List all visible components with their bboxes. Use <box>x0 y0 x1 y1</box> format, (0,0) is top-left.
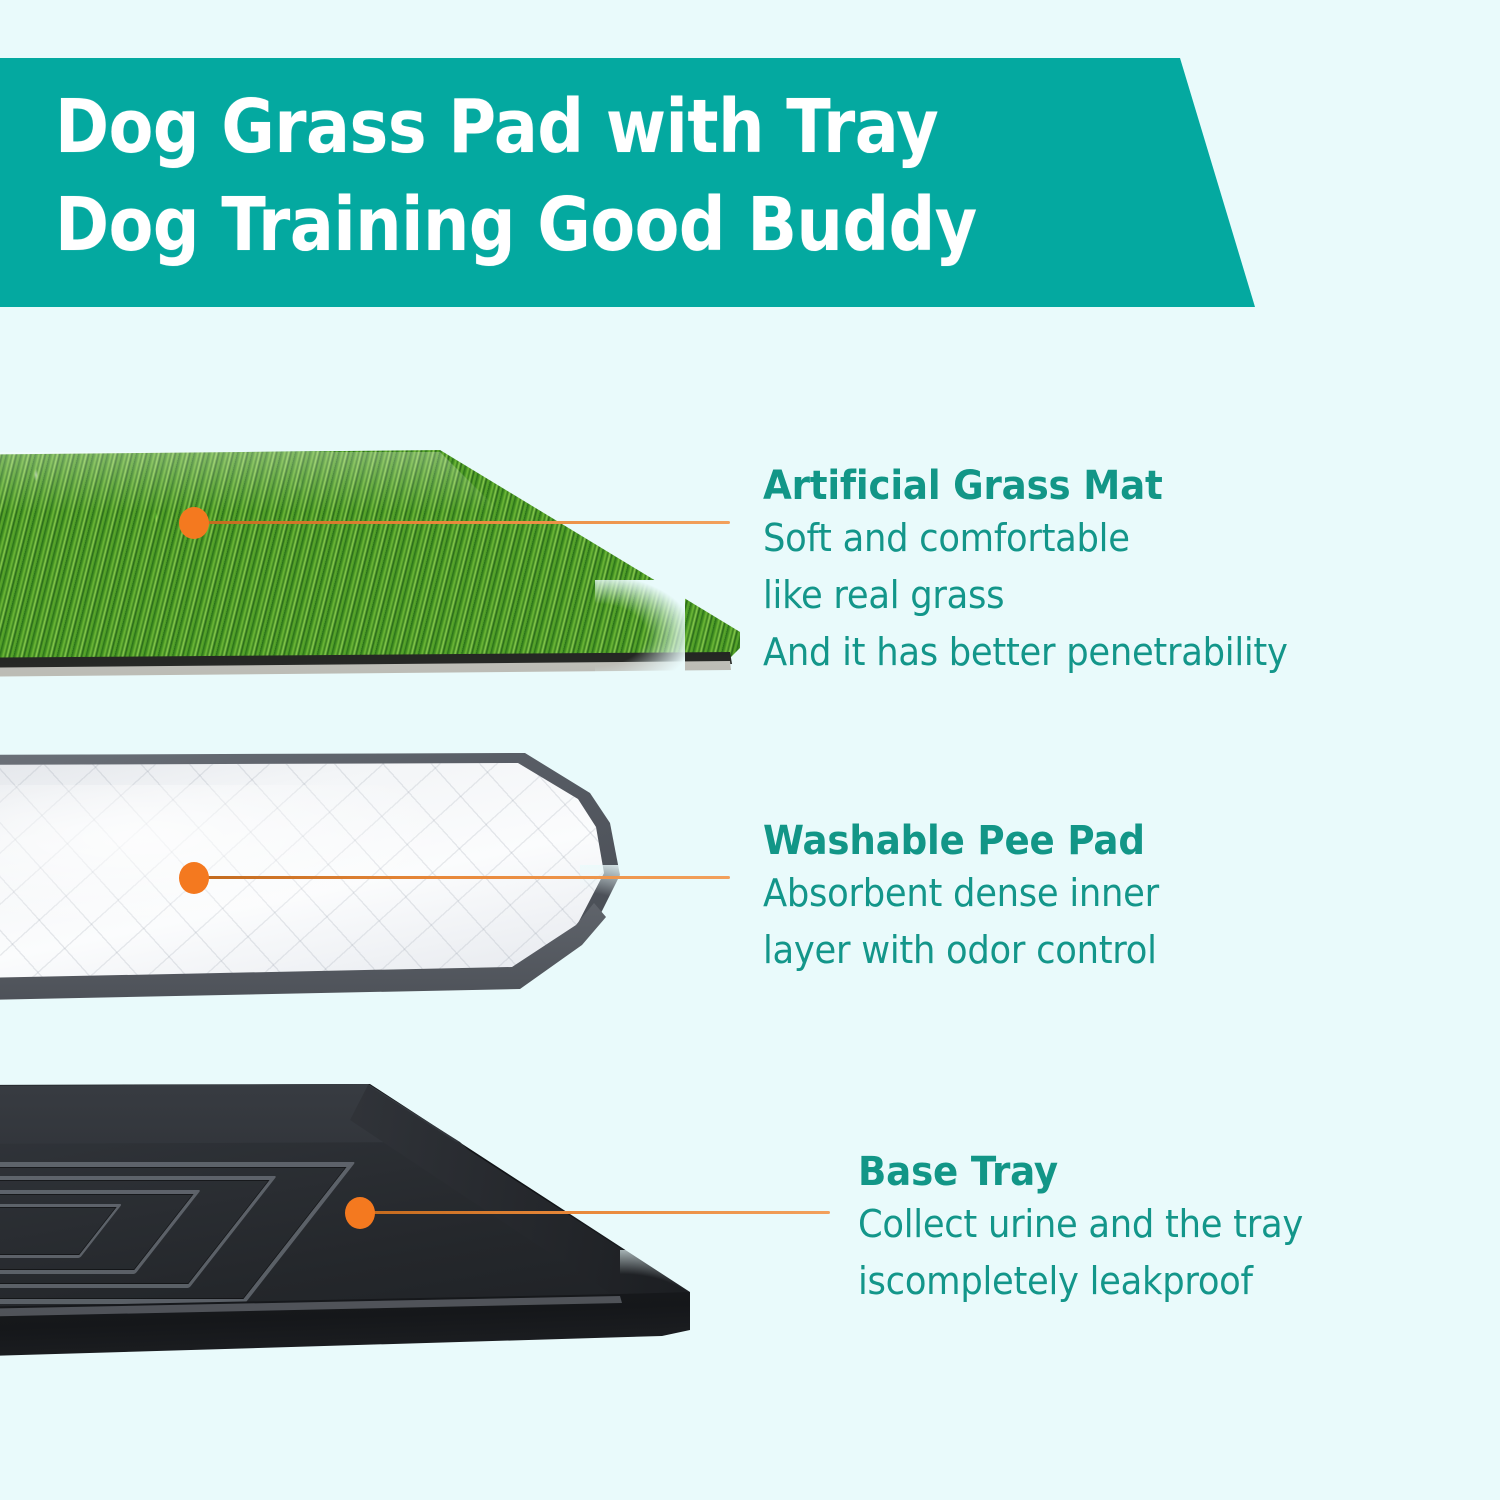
feature-title-grass-mat: Artificial Grass Mat <box>763 462 1288 510</box>
feature-body-pee-pad: Absorbent dense inner layer with odor co… <box>763 865 1159 979</box>
header-title-line-1: Dog Grass Pad with Tray <box>55 78 977 176</box>
pee-pad-edge-fade <box>580 865 690 1015</box>
product-image-grass-mat <box>0 430 740 690</box>
callout-dot-grass-mat <box>179 507 209 539</box>
header-banner: Dog Grass Pad with Tray Dog Training Goo… <box>0 58 1265 307</box>
feature-title-base-tray: Base Tray <box>858 1148 1303 1196</box>
feature-body-grass-mat: Soft and comfortable like real grass And… <box>763 510 1288 681</box>
feature-block-pee-pad: Washable Pee Pad Absorbent dense inner l… <box>763 817 1189 979</box>
callout-line-base-tray <box>366 1211 830 1214</box>
grass-mat-edge-fade <box>595 580 685 690</box>
feature-block-grass-mat: Artificial Grass Mat Soft and comfortabl… <box>763 462 1327 681</box>
product-image-pee-pad <box>0 745 730 1015</box>
feature-block-base-tray: Base Tray Collect urine and the tray isc… <box>858 1148 1336 1310</box>
feature-body-line: Soft and comfortable <box>763 510 1288 567</box>
feature-body-line: And it has better penetrability <box>763 624 1288 681</box>
base-tray-edge-fade <box>620 1250 750 1400</box>
callout-dot-base-tray <box>345 1197 375 1229</box>
header-banner-text: Dog Grass Pad with Tray Dog Training Goo… <box>55 78 977 274</box>
feature-body-line: Collect urine and the tray <box>858 1196 1303 1253</box>
infographic-canvas: Dog Grass Pad with Tray Dog Training Goo… <box>0 0 1500 1500</box>
product-image-base-tray <box>0 1080 760 1410</box>
callout-line-pee-pad <box>200 876 730 879</box>
feature-body-line: like real grass <box>763 567 1288 624</box>
header-title-line-2: Dog Training Good Buddy <box>55 176 977 274</box>
feature-body-base-tray: Collect urine and the tray iscompletely … <box>858 1196 1303 1310</box>
feature-body-line: layer with odor control <box>763 922 1159 979</box>
callout-dot-pee-pad <box>179 862 209 894</box>
feature-title-pee-pad: Washable Pee Pad <box>763 817 1159 865</box>
callout-line-grass-mat <box>200 521 730 524</box>
feature-body-line: Absorbent dense inner <box>763 865 1159 922</box>
feature-body-line: iscompletely leakproof <box>858 1253 1303 1310</box>
